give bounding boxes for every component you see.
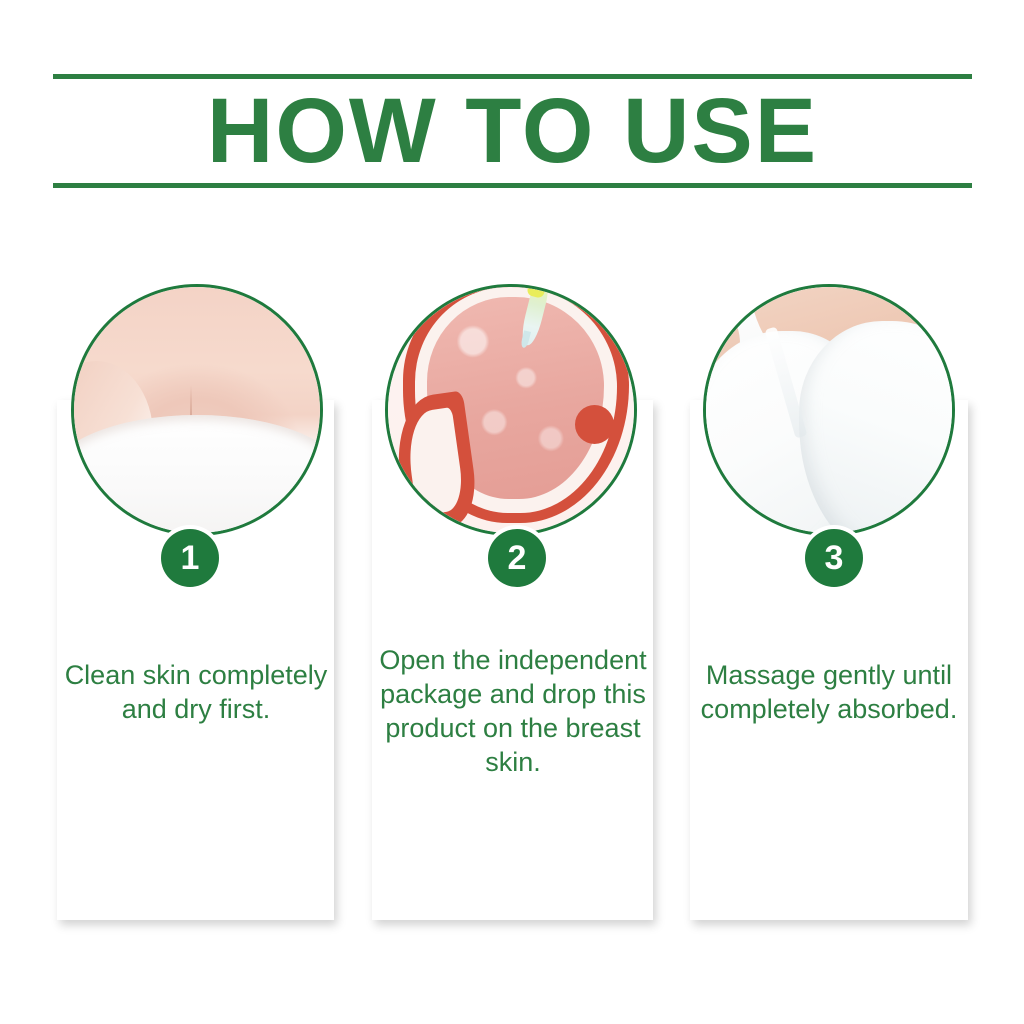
breast-cross-section-with-dropper-illustration [388,287,634,533]
step-1-caption: Clean skin completely and dry first. [62,658,330,726]
white-garment-shape [74,415,320,533]
step-1-number-badge: 1 [161,529,219,587]
step-3-number-badge: 3 [805,529,863,587]
step-1-photo-circle [71,284,323,536]
woman-wearing-white-top-chest-photo [74,287,320,533]
woman-wearing-white-bra-photo [706,287,952,533]
step-2-number-badge: 2 [488,529,546,587]
steps-container: 1 Clean skin completely and dry first. 2… [0,0,1024,1024]
step-3-caption: Massage gently until completely absorbed… [694,658,964,726]
step-2-caption: Open the independent package and drop th… [377,643,649,779]
step-2-photo-circle [385,284,637,536]
bra-cup-right-shape [799,321,952,533]
step-3-photo-circle [703,284,955,536]
